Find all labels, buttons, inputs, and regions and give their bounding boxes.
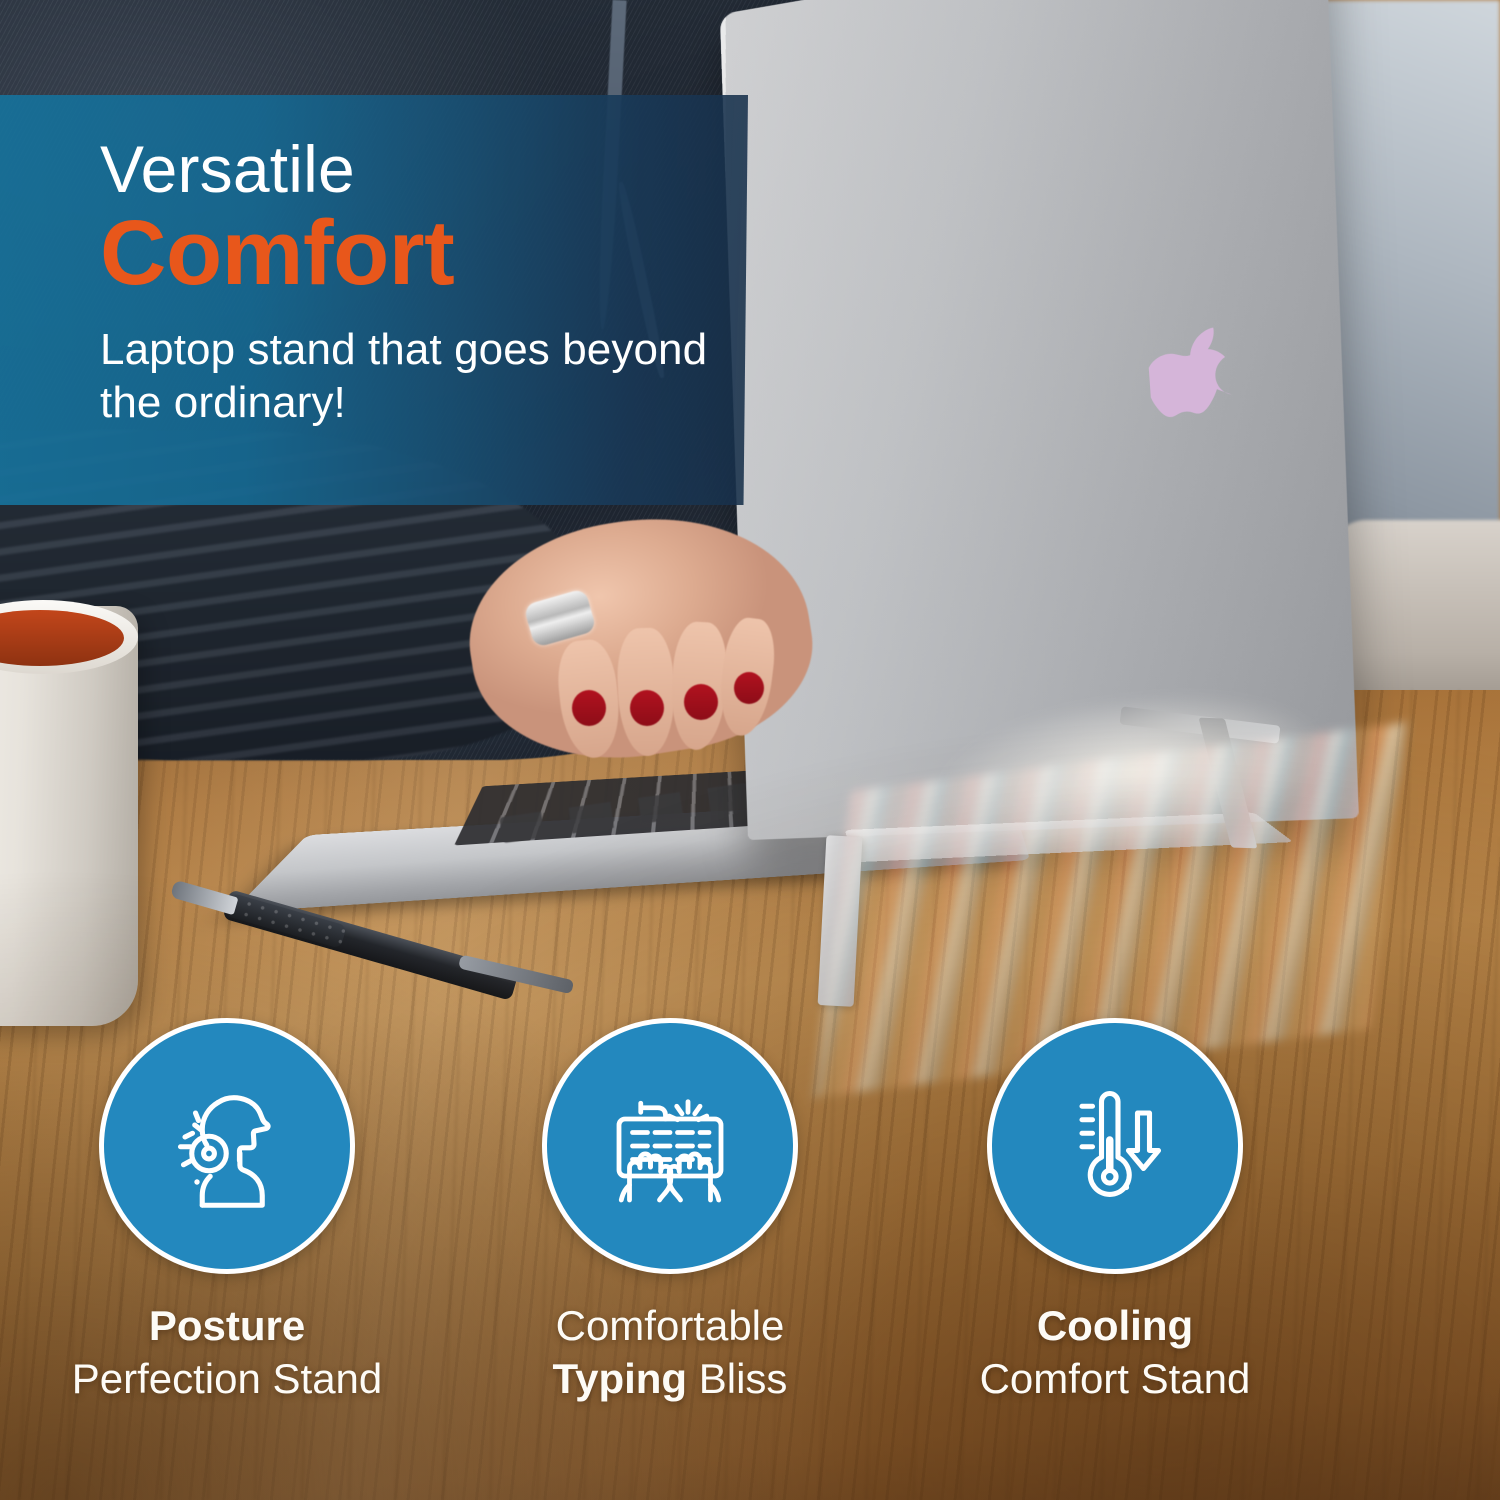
product-marketing-image: Versatile Comfort Laptop stand that goes… [0, 0, 1500, 1500]
feature-caption: Cooling Comfort Stand [925, 1300, 1305, 1406]
feature-caption-line-1: Posture [37, 1300, 417, 1353]
feature-item-posture: Posture Perfection Stand [37, 1018, 417, 1406]
feature-caption-line-1: Cooling [925, 1300, 1305, 1353]
feature-caption-line-1: Comfortable [480, 1300, 860, 1353]
feature-caption: Comfortable Typing Bliss [480, 1300, 860, 1406]
feature-caption-bold: Posture [149, 1302, 305, 1349]
neck-pain-posture-icon [152, 1071, 302, 1221]
subtitle-line-1: Laptop stand that goes [100, 325, 550, 374]
feature-icon-circle [542, 1018, 798, 1274]
feature-item-cooling: Cooling Comfort Stand [925, 1018, 1305, 1406]
thermometer-cooling-icon [1040, 1071, 1190, 1221]
feature-row: Posture Perfection Stand [0, 1018, 1500, 1438]
headline-line-2-accent: Comfort [100, 207, 748, 301]
feature-icon-circle [987, 1018, 1243, 1274]
feature-item-typing: Comfortable Typing Bliss [480, 1018, 860, 1406]
feature-icon-circle [99, 1018, 355, 1274]
hands-typing-keyboard-icon [595, 1071, 745, 1221]
feature-caption-line-2: Comfort Stand [925, 1353, 1305, 1406]
feature-caption-line-2: Typing Bliss [480, 1353, 860, 1406]
headline-banner: Versatile Comfort Laptop stand that goes… [0, 95, 748, 505]
feature-caption-line-2: Perfection Stand [37, 1353, 417, 1406]
feature-caption: Posture Perfection Stand [37, 1300, 417, 1406]
headline-subtitle: Laptop stand that goes beyond the ordina… [100, 323, 730, 430]
feature-caption-bold: Cooling [1037, 1302, 1193, 1349]
feature-caption-rest: Bliss [687, 1355, 787, 1402]
feature-caption-bold: Typing [553, 1355, 688, 1402]
headline-line-1: Versatile [100, 135, 748, 205]
